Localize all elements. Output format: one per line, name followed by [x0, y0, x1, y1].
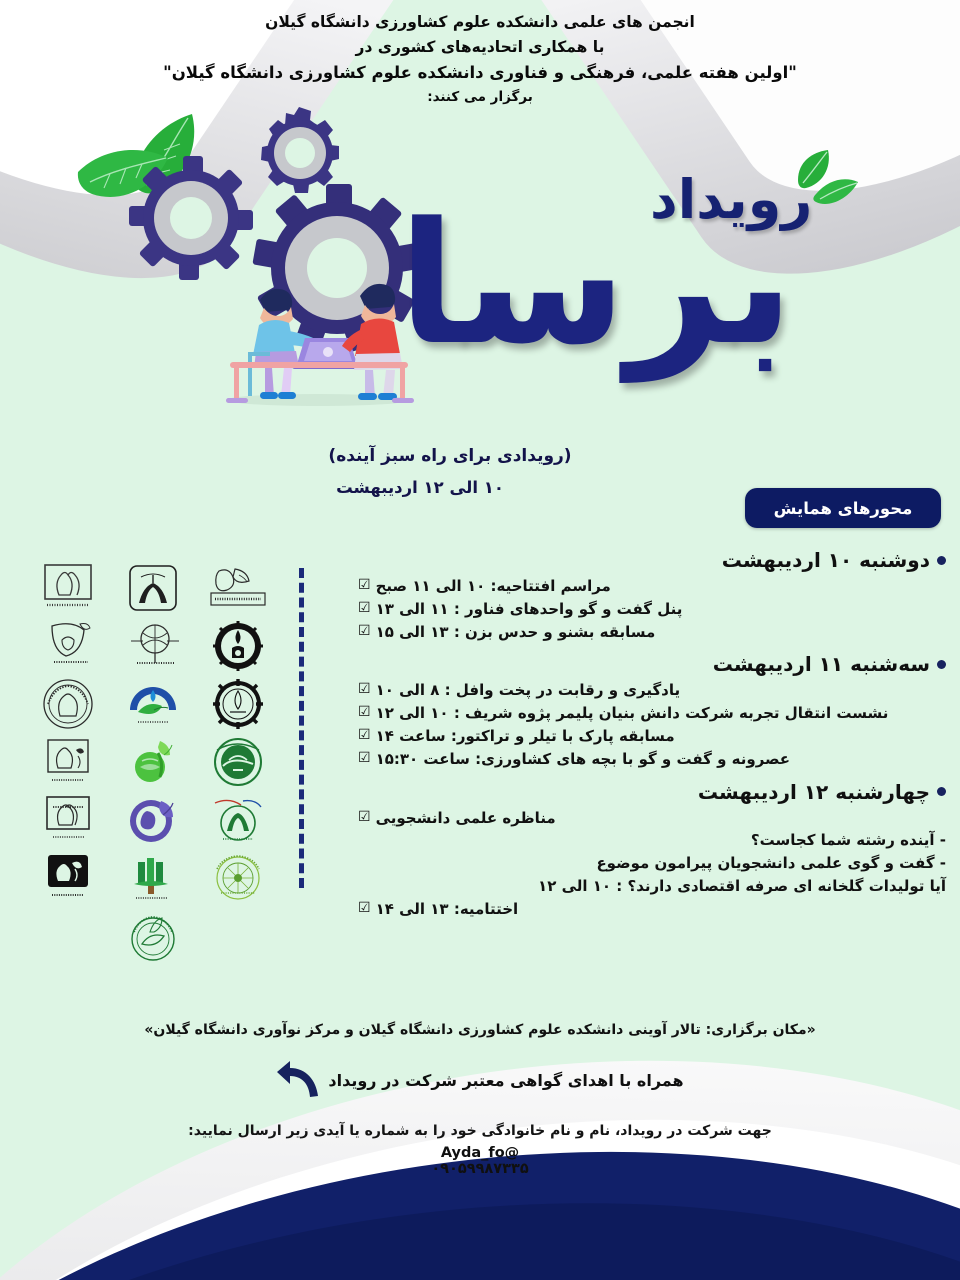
day-title: سه‌شنبه ۱۱ اردیبهشت: [713, 652, 930, 676]
section-badge-topics: محورهای همایش: [745, 488, 941, 528]
sponsor-logo: [31, 792, 105, 848]
bullet-dot-icon: [937, 556, 946, 565]
checkbox-checked-icon: ☑: [358, 621, 371, 642]
contact-instruction: جهت شرکت در رویداد، نام و نام خانوادگی خ…: [0, 1118, 960, 1145]
header-line-organizers: انجمن های علمی دانشکده علوم کشاورزی دانش…: [0, 10, 960, 35]
sponsor-logo: [201, 792, 275, 848]
day-items: یادگیری و رقابت در پخت وافل : ۸ الی ۱۰ ☑…: [358, 679, 946, 770]
sponsor-logo: [201, 734, 275, 790]
list-item: نشست انتقال تجربه شرکت دانش بنیان پلیمر …: [358, 702, 946, 725]
day-header: چهارشنبه ۱۲ اردیبهشت: [358, 780, 946, 804]
sponsor-logo: [31, 676, 105, 732]
day-header: سه‌شنبه ۱۱ اردیبهشت: [358, 652, 946, 676]
day-header: دوشنبه ۱۰ اردیبهشت: [358, 548, 946, 572]
sponsor-logo: [201, 850, 275, 906]
header-line-partners: با همکاری اتحادیه‌های کشوری در: [0, 35, 960, 60]
logo-rows: [28, 560, 278, 906]
sponsor-logo: [116, 792, 190, 848]
contact-handle[interactable]: @Ayda_fo: [0, 1145, 960, 1161]
sponsor-logo: [31, 560, 105, 616]
brand-name: برسا: [398, 200, 794, 368]
poster-header: انجمن های علمی دانشکده علوم کشاورزی دانش…: [0, 10, 960, 109]
sponsor-logo: [31, 734, 105, 790]
venue-text: «مکان برگزاری: تالار آوینی دانشکده علوم …: [0, 1022, 960, 1038]
day-item-label: مراسم افتتاحیه: ۱۰ الی ۱۱ صبح: [376, 575, 611, 598]
curved-arrow-icon: [276, 1060, 322, 1100]
brand-date: ۱۰ الی ۱۲ اردیبهشت: [0, 478, 840, 497]
sponsor-logo: [31, 618, 105, 674]
day-item-label: مناظره علمی دانشجویی: [376, 807, 556, 830]
sponsor-logo: [116, 908, 190, 964]
brand-tagline: (رویدادی برای راه سبز آینده): [0, 446, 900, 466]
schedule-list: دوشنبه ۱۰ اردیبهشت مراسم افتتاحیه: ۱۰ ال…: [358, 548, 946, 930]
header-line-event-name: "اولین هفته علمی، فرهنگی و فناوری دانشکد…: [0, 60, 960, 87]
day-note: - گفت و گوی علمی دانشجویان پیرامون موضوع: [358, 852, 946, 875]
contact-block: جهت شرکت در رویداد، نام و نام خانوادگی خ…: [0, 1118, 960, 1177]
day-item-label: نشست انتقال تجربه شرکت دانش بنیان پلیمر …: [376, 702, 889, 725]
certificate-note: همراه با اهدای گواهی معتبر شرکت در رویدا…: [0, 1060, 960, 1100]
sponsor-logo: [116, 560, 190, 616]
day-title: چهارشنبه ۱۲ اردیبهشت: [698, 780, 930, 804]
schedule-day: دوشنبه ۱۰ اردیبهشت مراسم افتتاحیه: ۱۰ ال…: [358, 548, 946, 643]
gear-small-icon: [261, 107, 339, 193]
list-item: اختتامیه: ۱۳ الی ۱۴ ☑: [358, 898, 946, 921]
list-item: مناظره علمی دانشجویی ☑: [358, 807, 946, 830]
sponsor-logo: [116, 676, 190, 732]
sponsor-logo: [116, 850, 190, 906]
vertical-dashed-divider: [299, 568, 304, 888]
list-item: عصرونه و گفت و گو با بچه های کشاورزی: سا…: [358, 748, 946, 771]
sponsor-logos-grid: [28, 560, 278, 964]
checkbox-checked-icon: ☑: [358, 598, 371, 619]
checkbox-checked-icon: ☑: [358, 725, 371, 746]
certificate-label: همراه با اهدای گواهی معتبر شرکت در رویدا…: [328, 1071, 683, 1090]
contact-phone[interactable]: ۰۹۰۵۹۹۸۷۳۳۵: [0, 1161, 960, 1177]
checkbox-checked-icon: ☑: [358, 702, 371, 723]
gear-medium-icon: [129, 156, 253, 280]
list-item: مراسم افتتاحیه: ۱۰ الی ۱۱ صبح ☑: [358, 575, 946, 598]
day-item-label: مسابقه بشنو و حدس بزن : ۱۳ الی ۱۵: [376, 621, 656, 644]
list-item: یادگیری و رقابت در پخت وافل : ۸ الی ۱۰ ☑: [358, 679, 946, 702]
list-item: مسابقه بشنو و حدس بزن : ۱۳ الی ۱۵ ☑: [358, 621, 946, 644]
day-items: مناظره علمی دانشجویی ☑: [358, 807, 946, 830]
sponsor-logo-footer-row: [28, 908, 278, 964]
brand-leaf-icon: [790, 150, 860, 214]
header-line-present: برگزار می کنند:: [0, 87, 960, 109]
checkbox-checked-icon: ☑: [358, 679, 371, 700]
list-item: مسابقه پارک با تیلر و تراکتور: ساعت ۱۴ ☑: [358, 725, 946, 748]
checkbox-checked-icon: ☑: [358, 575, 371, 596]
sponsor-logo: [31, 850, 105, 906]
day-item-label: مسابقه پارک با تیلر و تراکتور: ساعت ۱۴: [376, 725, 675, 748]
event-poster: انجمن های علمی دانشکده علوم کشاورزی دانش…: [0, 0, 960, 1280]
day-items: مراسم افتتاحیه: ۱۰ الی ۱۱ صبح ☑ پنل گفت …: [358, 575, 946, 643]
day-item-label: اختتامیه: ۱۳ الی ۱۴: [376, 898, 519, 921]
checkbox-checked-icon: ☑: [358, 898, 371, 919]
checkbox-checked-icon: ☑: [358, 748, 371, 769]
bullet-dot-icon: [937, 660, 946, 669]
day-note: - آینده رشته شما کجاست؟: [358, 829, 946, 852]
checkbox-checked-icon: ☑: [358, 807, 371, 828]
sponsor-logo: [201, 676, 275, 732]
schedule-day: سه‌شنبه ۱۱ اردیبهشت یادگیری و رقابت در پ…: [358, 652, 946, 770]
sponsor-logo: [201, 618, 275, 674]
day-title: دوشنبه ۱۰ اردیبهشت: [722, 548, 930, 572]
schedule-day: چهارشنبه ۱۲ اردیبهشت مناظره علمی دانشجوی…: [358, 780, 946, 921]
day-item-label: پنل گفت و گو واحدهای فناور : ۱۱ الی ۱۳: [376, 598, 683, 621]
day-note: آیا تولیدات گلخانه ای صرفه اقتصادی دارند…: [358, 875, 946, 898]
sponsor-logo: [201, 560, 275, 616]
sponsor-logo: [116, 734, 190, 790]
list-item: پنل گفت و گو واحدهای فناور : ۱۱ الی ۱۳ ☑: [358, 598, 946, 621]
day-item-label: عصرونه و گفت و گو با بچه های کشاورزی: سا…: [376, 748, 790, 771]
day-item-label: یادگیری و رقابت در پخت وافل : ۸ الی ۱۰: [376, 679, 681, 702]
bullet-dot-icon: [937, 787, 946, 796]
day-items-after: اختتامیه: ۱۳ الی ۱۴ ☑: [358, 898, 946, 921]
sponsor-logo: [116, 618, 190, 674]
